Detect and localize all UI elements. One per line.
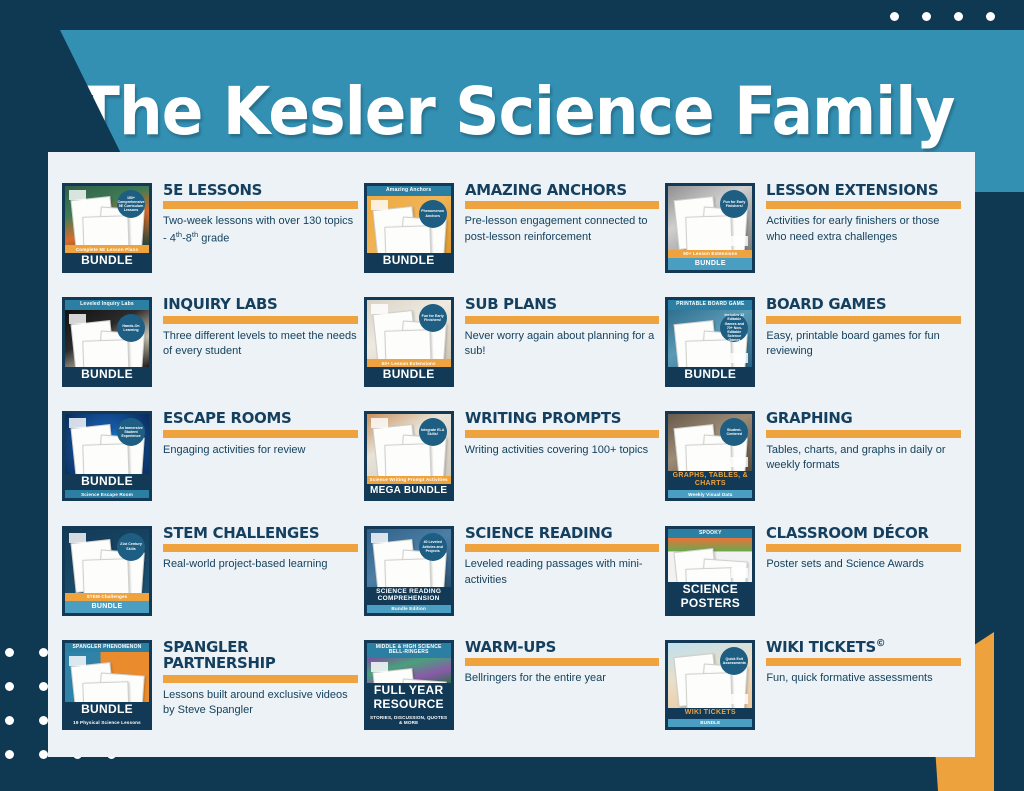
product-item[interactable]: 21st Century SkillsSTEM ChallengesBUNDLE… xyxy=(62,519,358,633)
thumbnail-artwork: 21st Century Skills xyxy=(65,529,149,593)
thumbnail-sub-label: Science Escape Room xyxy=(65,490,149,498)
accent-bar xyxy=(465,316,660,324)
product-description: Easy, printable board games for fun revi… xyxy=(766,329,961,360)
product-grid: 150+ Comprehensive 5E Curriculum Lessons… xyxy=(62,176,961,747)
thumbnail-artwork xyxy=(367,658,451,683)
thumbnail-bundle-label: GRAPHS, TABLES, & CHARTS xyxy=(668,471,752,490)
thumbnail-paper-sheet xyxy=(686,672,733,708)
product-thumbnail[interactable]: Fun for Early Finishers!50+ Lesson Exten… xyxy=(665,183,755,273)
thumbnail-badge: Quick Exit Assessments xyxy=(720,647,748,675)
kesler-science-logo-icon xyxy=(731,694,748,704)
product-info: Board GamesEasy, printable board games f… xyxy=(755,294,961,360)
kesler-science-logo-icon xyxy=(69,314,86,324)
decorative-dot xyxy=(39,648,48,657)
product-title: 5E Lessons xyxy=(163,182,350,198)
kesler-science-logo-icon xyxy=(69,656,86,666)
thumbnail-bundle-label: BUNDLE xyxy=(65,253,149,270)
kesler-science-logo-icon xyxy=(731,457,748,467)
thumbnail-bundle-label: BUNDLE xyxy=(668,258,752,270)
decorative-dot xyxy=(890,12,899,21)
product-thumbnail[interactable]: Leveled Inquiry LabsHands-On LearningBUN… xyxy=(62,297,152,387)
thumbnail-bundle-label: SCIENCE READING COMPREHENSION xyxy=(367,587,451,605)
page-title: The Kesler Science Family xyxy=(78,73,954,150)
product-item[interactable]: 150+ Comprehensive 5E Curriculum Lessons… xyxy=(62,176,358,290)
product-item[interactable]: Leveled Inquiry LabsHands-On LearningBUN… xyxy=(62,290,358,404)
product-description: Fun, quick formative assessments xyxy=(766,671,961,687)
product-item[interactable]: 40 Leveled Articles and ProjectsSCIENCE … xyxy=(364,519,660,633)
product-thumbnail[interactable]: SPANGLER PHENOMENONBUNDLE19 Physical Sci… xyxy=(62,640,152,730)
product-item[interactable]: Amazing AnchorsPhenomenon AnchorsBUNDLEA… xyxy=(364,176,660,290)
product-title: Inquiry Labs xyxy=(163,296,350,312)
product-info: Warm-UpsBellringers for the entire year xyxy=(454,637,660,687)
product-description: Activities for early finishers or those … xyxy=(766,214,961,245)
thumbnail-paper-sheet xyxy=(82,444,129,474)
thumbnail-bundle-label: MEGA BUNDLE xyxy=(367,484,451,499)
thumbnail-artwork: Fun for Early Finishers! xyxy=(668,186,752,250)
product-info: 5E LessonsTwo-week lessons with over 130… xyxy=(152,180,358,247)
product-description: Real-world project-based learning xyxy=(163,557,358,573)
thumbnail-bundle-label: BUNDLE xyxy=(65,601,149,613)
thumbnail-top-label: Amazing Anchors xyxy=(367,186,451,196)
product-item[interactable]: SPANGLER PHENOMENONBUNDLE19 Physical Sci… xyxy=(62,633,358,747)
product-item[interactable]: MIDDLE & HIGH SCIENCE BELL-RINGERSFULL Y… xyxy=(364,633,660,747)
accent-bar xyxy=(766,201,961,209)
thumbnail-sub-label: 50+ Lesson Extensions xyxy=(668,250,752,258)
accent-bar xyxy=(163,316,358,324)
product-title: Writing Prompts xyxy=(465,410,652,426)
thumbnail-badge: 150+ Comprehensive 5E Curriculum Lessons xyxy=(117,190,145,218)
decorative-dot xyxy=(5,682,14,691)
thumbnail-artwork: 150+ Comprehensive 5E Curriculum Lessons xyxy=(65,186,149,245)
thumbnail-bundle-label: BUNDLE xyxy=(367,367,451,384)
product-item[interactable]: An Immersive Student ExperienceBUNDLESci… xyxy=(62,404,358,518)
product-info: STEM ChallengesReal-world project-based … xyxy=(152,523,358,573)
decorative-dot xyxy=(5,716,14,725)
thumbnail-artwork xyxy=(668,538,752,582)
product-info: Science ReadingLeveled reading passages … xyxy=(454,523,660,589)
thumbnail-badge: Phenomenon Anchors xyxy=(419,200,447,228)
thumbnail-paper-sheet xyxy=(686,215,733,250)
accent-bar xyxy=(465,430,660,438)
thumbnail-top-label: PRINTABLE BOARD GAME xyxy=(668,300,752,310)
thumbnail-paper-sheet xyxy=(384,444,431,476)
product-item[interactable]: Integrate ELA Skills!Science Writing Pro… xyxy=(364,404,660,518)
kesler-science-logo-icon xyxy=(731,236,748,246)
product-description: Bellringers for the entire year xyxy=(465,671,660,687)
product-description: Tables, charts, and graphs in daily or w… xyxy=(766,443,961,474)
product-description: Leveled reading passages with mini-activ… xyxy=(465,557,660,588)
decorative-dot xyxy=(39,716,48,725)
product-title: Warm-Ups xyxy=(465,639,652,655)
product-thumbnail[interactable]: Fun for Early Finishers!50+ Lesson Exten… xyxy=(364,297,454,387)
thumbnail-top-label: MIDDLE & HIGH SCIENCE BELL-RINGERS xyxy=(367,643,451,658)
kesler-science-logo-icon xyxy=(371,304,388,314)
product-description: Pre-lesson engagement connected to post-… xyxy=(465,214,660,245)
product-item[interactable]: Quick Exit AssessmentsWIKI TICKETSBUNDLE… xyxy=(665,633,961,747)
product-title: Sub Plans xyxy=(465,296,652,312)
product-info: WIKI TICKETS©Fun, quick formative assess… xyxy=(755,637,961,687)
accent-bar xyxy=(163,201,358,209)
accent-bar xyxy=(163,544,358,552)
thumbnail-top-label: SPOOKY xyxy=(668,529,752,539)
product-title: Escape Rooms xyxy=(163,410,350,426)
kesler-science-logo-icon xyxy=(371,533,388,543)
product-title: Amazing Anchors xyxy=(465,182,652,198)
thumbnail-artwork: Includes 12 Editable Games and 70+ Non-E… xyxy=(668,310,752,368)
thumbnail-badge: Fun for Early Finishers! xyxy=(419,304,447,332)
product-description: Writing activities covering 100+ topics xyxy=(465,443,660,459)
thumbnail-artwork: Hands-On Learning xyxy=(65,310,149,368)
decorative-dot xyxy=(954,12,963,21)
thumbnail-sub-label: Weekly Visual Data xyxy=(668,490,752,498)
product-title: Science Reading xyxy=(465,525,652,541)
accent-bar xyxy=(766,658,961,666)
thumbnail-paper-sheet xyxy=(384,329,431,359)
thumbnail-artwork: Quick Exit Assessments xyxy=(668,643,752,708)
thumbnail-badge: 21st Century Skills xyxy=(117,533,145,561)
thumbnail-bundle-label: WIKI TICKETS xyxy=(668,708,752,719)
product-description: Three different levels to meet the needs… xyxy=(163,329,358,360)
product-item[interactable]: Fun for Early Finishers!50+ Lesson Exten… xyxy=(364,290,660,404)
accent-bar xyxy=(766,544,961,552)
thumbnail-sub-label: BUNDLE xyxy=(668,719,752,727)
product-thumbnail[interactable]: SPOOKYSCIENCE POSTERS xyxy=(665,526,755,616)
product-item[interactable]: Student-CenteredGRAPHS, TABLES, & CHARTS… xyxy=(665,404,961,518)
thumbnail-artwork: Student-Centered xyxy=(668,414,752,471)
thumbnail-artwork: An Immersive Student Experience xyxy=(65,414,149,473)
product-info: Lesson ExtensionsActivities for early fi… xyxy=(755,180,961,246)
kesler-science-logo-icon xyxy=(731,353,748,363)
thumbnail-paper-sheet xyxy=(384,558,431,587)
thumbnail-sub-label: 50+ Lesson Extensions xyxy=(367,359,451,367)
thumbnail-bundle-label: BUNDLE xyxy=(668,367,752,384)
product-thumbnail[interactable]: Integrate ELA Skills!Science Writing Pro… xyxy=(364,411,454,501)
thumbnail-paper-sheet xyxy=(82,682,129,702)
thumbnail-badge: 40 Leveled Articles and Projects xyxy=(419,533,447,561)
thumbnail-top-label: SPANGLER PHENOMENON xyxy=(65,643,149,653)
accent-bar xyxy=(465,201,660,209)
product-thumbnail[interactable]: Quick Exit AssessmentsWIKI TICKETSBUNDLE xyxy=(665,640,755,730)
thumbnail-bundle-label: FULL YEAR RESOURCE xyxy=(367,683,451,714)
thumbnail-artwork xyxy=(65,652,149,702)
thumbnail-sub-label: STEM Challenges xyxy=(65,593,149,601)
product-info: GraphingTables, charts, and graphs in da… xyxy=(755,408,961,474)
accent-bar xyxy=(163,430,358,438)
thumbnail-paper-sheet xyxy=(686,567,733,582)
thumbnail-bundle-label: BUNDLE xyxy=(367,253,451,270)
thumbnail-bundle-label: SCIENCE POSTERS xyxy=(668,582,752,613)
thumbnail-paper-sheet xyxy=(399,678,447,683)
decorative-dot xyxy=(39,750,48,759)
accent-bar xyxy=(163,675,358,683)
accent-bar xyxy=(766,430,961,438)
accent-bar xyxy=(766,316,961,324)
product-title: Board Games xyxy=(766,296,953,312)
thumbnail-artwork: Phenomenon Anchors xyxy=(367,196,451,254)
thumbnail-paper-sheet xyxy=(82,215,129,245)
thumbnail-paper-sheet xyxy=(686,339,733,367)
product-info: Escape RoomsEngaging activities for revi… xyxy=(152,408,358,458)
thumbnail-sub-label: Bundle Edition xyxy=(367,605,451,613)
product-info: Amazing AnchorsPre-lesson engagement con… xyxy=(454,180,660,246)
product-description: Poster sets and Science Awards xyxy=(766,557,961,573)
thumbnail-artwork: Fun for Early Finishers! xyxy=(367,300,451,359)
thumbnail-top-label: Leveled Inquiry Labs xyxy=(65,300,149,310)
product-title: Graphing xyxy=(766,410,953,426)
product-description: Lessons built around exclusive videos by… xyxy=(163,688,358,719)
thumbnail-bundle-label: BUNDLE xyxy=(65,367,149,384)
product-thumbnail[interactable]: An Immersive Student ExperienceBUNDLESci… xyxy=(62,411,152,501)
thumbnail-bundle-label: BUNDLE xyxy=(65,474,149,491)
kesler-science-logo-icon xyxy=(69,533,86,543)
product-item[interactable]: PRINTABLE BOARD GAMEIncludes 12 Editable… xyxy=(665,290,961,404)
product-info: Sub PlansNever worry again about plannin… xyxy=(454,294,660,360)
thumbnail-sub-label: Science Writing Prompt Activities xyxy=(367,476,451,484)
product-item[interactable]: SPOOKYSCIENCE POSTERSClassroom DécorPost… xyxy=(665,519,961,633)
thumbnail-artwork: Integrate ELA Skills! xyxy=(367,414,451,475)
kesler-science-logo-icon xyxy=(371,200,388,210)
decorative-dot xyxy=(5,648,14,657)
product-title: WIKI TICKETS© xyxy=(766,639,953,656)
product-thumbnail[interactable]: Student-CenteredGRAPHS, TABLES, & CHARTS… xyxy=(665,411,755,501)
product-title: Lesson Extensions xyxy=(766,182,953,198)
thumbnail-sub-label: STORIES, DISCUSSION, QUOTES & MORE xyxy=(367,714,451,727)
product-thumbnail[interactable]: PRINTABLE BOARD GAMEIncludes 12 Editable… xyxy=(665,297,755,387)
product-title: STEM Challenges xyxy=(163,525,350,541)
thumbnail-bundle-label: BUNDLE xyxy=(65,702,149,719)
product-thumbnail[interactable]: Amazing AnchorsPhenomenon AnchorsBUNDLE xyxy=(364,183,454,273)
thumbnail-paper-sheet xyxy=(686,444,733,472)
product-thumbnail[interactable]: 150+ Comprehensive 5E Curriculum Lessons… xyxy=(62,183,152,273)
thumbnail-badge: Hands-On Learning xyxy=(117,314,145,342)
thumbnail-sub-label: Complete 5E Lesson Plans xyxy=(65,245,149,253)
product-title: Spangler Partnership xyxy=(163,639,350,672)
kesler-science-logo-icon xyxy=(69,418,86,428)
product-thumbnail[interactable]: 21st Century SkillsSTEM ChallengesBUNDLE xyxy=(62,526,152,616)
poster-root: The Kesler Science Family 150+ Comprehen… xyxy=(0,0,1024,791)
thumbnail-badge: Integrate ELA Skills! xyxy=(419,418,447,446)
decorative-dot xyxy=(986,12,995,21)
accent-bar xyxy=(465,658,660,666)
kesler-science-logo-icon xyxy=(731,568,748,578)
product-description: Engaging activities for review xyxy=(163,443,358,459)
product-description: Two-week lessons with over 130 topics - … xyxy=(163,214,358,247)
thumbnail-paper-sheet xyxy=(82,558,129,593)
product-info: Classroom DécorPoster sets and Science A… xyxy=(755,523,961,573)
decorative-dot xyxy=(39,682,48,691)
product-item[interactable]: Fun for Early Finishers!50+ Lesson Exten… xyxy=(665,176,961,290)
product-thumbnail[interactable]: 40 Leveled Articles and ProjectsSCIENCE … xyxy=(364,526,454,616)
product-thumbnail[interactable]: MIDDLE & HIGH SCIENCE BELL-RINGERSFULL Y… xyxy=(364,640,454,730)
kesler-science-logo-icon xyxy=(69,190,86,200)
product-info: Writing PromptsWriting activities coveri… xyxy=(454,408,660,458)
product-info: Spangler PartnershipLessons built around… xyxy=(152,637,358,719)
product-info: Inquiry LabsThree different levels to me… xyxy=(152,294,358,360)
kesler-science-logo-icon xyxy=(371,418,388,428)
content-card: 150+ Comprehensive 5E Curriculum Lessons… xyxy=(48,152,975,757)
product-description: Never worry again about planning for a s… xyxy=(465,329,660,360)
thumbnail-badge: Includes 12 Editable Games and 70+ Non-E… xyxy=(720,314,748,342)
product-title: Classroom Décor xyxy=(766,525,953,541)
decorative-dot xyxy=(5,750,14,759)
accent-bar xyxy=(465,544,660,552)
thumbnail-paper-sheet xyxy=(82,339,129,367)
thumbnail-paper-sheet xyxy=(384,225,431,253)
kesler-science-logo-icon xyxy=(371,662,388,672)
thumbnail-artwork: 40 Leveled Articles and Projects xyxy=(367,529,451,587)
decorative-dot xyxy=(922,12,931,21)
thumbnail-sub-label: 19 Physical Science Lessons xyxy=(65,719,149,727)
